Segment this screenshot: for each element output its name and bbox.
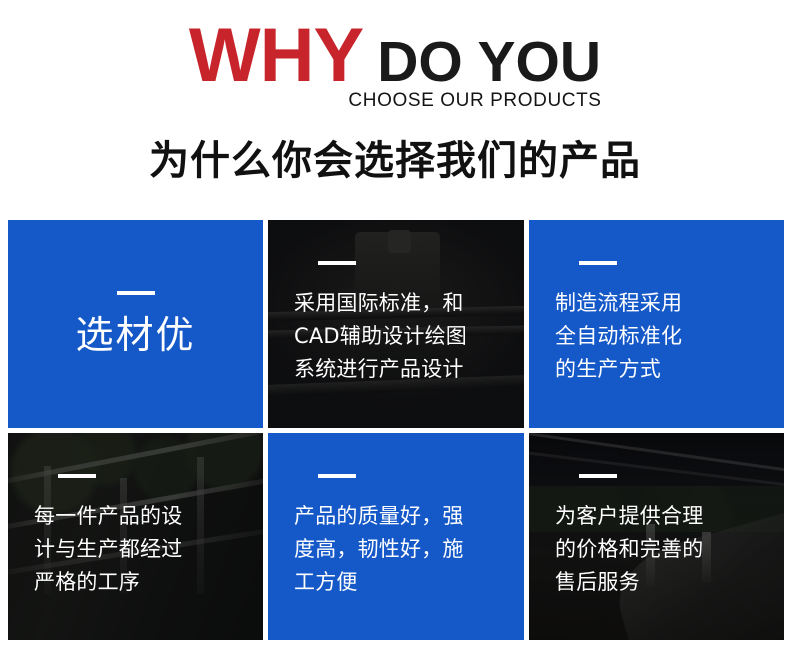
divider-dash-icon <box>318 261 356 265</box>
title-inner: WHYDO YOU <box>0 18 790 94</box>
feature-cell-5[interactable]: 产品的质量好，强 度高，韧性好，施 工方便 <box>268 433 524 641</box>
page-header: WHYDO YOU CHOOSE OUR PRODUCTS 为什么你会选择我们的… <box>0 0 790 216</box>
feature-cell-1[interactable]: 选材优 <box>8 220 263 428</box>
divider-dash-icon <box>579 261 617 265</box>
feature-cell-2-content: 采用国际标准，和 CAD辅助设计绘图 系统进行产品设计 <box>268 220 524 428</box>
divider-dash-icon <box>318 474 356 478</box>
subtitle-english: CHOOSE OUR PRODUCTS <box>0 90 790 112</box>
feature-cell-3[interactable]: 制造流程采用 全自动标准化 的生产方式 <box>529 220 784 428</box>
feature-cell-6[interactable]: 为客户提供合理 的价格和完善的 售后服务 <box>529 433 784 641</box>
feature-cell-4-content: 每一件产品的设 计与生产都经过 严格的工序 <box>8 433 263 641</box>
feature-cell-6-content: 为客户提供合理 的价格和完善的 售后服务 <box>529 433 784 641</box>
divider-dash-icon <box>58 474 96 478</box>
title-word-do-you: DO YOU <box>377 30 601 94</box>
feature-cell-2-text: 采用国际标准，和 CAD辅助设计绘图 系统进行产品设计 <box>294 287 498 386</box>
feature-cell-4[interactable]: 每一件产品的设 计与生产都经过 严格的工序 <box>8 433 263 641</box>
headline-chinese: 为什么你会选择我们的产品 <box>0 128 790 186</box>
feature-cell-6-text: 为客户提供合理 的价格和完善的 售后服务 <box>555 500 758 599</box>
divider-dash-icon <box>117 291 155 295</box>
feature-grid: 选材优 采用国际标准，和 CAD辅助设计绘图 系统进行产品设计 制造流程采用 全… <box>8 220 782 640</box>
feature-cell-1-content: 选材优 <box>8 220 263 428</box>
feature-cell-3-content: 制造流程采用 全自动标准化 的生产方式 <box>529 220 784 428</box>
title-row: WHYDO YOU <box>0 18 790 98</box>
title-word-why: WHY <box>189 13 363 98</box>
feature-cell-2[interactable]: 采用国际标准，和 CAD辅助设计绘图 系统进行产品设计 <box>268 220 524 428</box>
feature-cell-5-content: 产品的质量好，强 度高，韧性好，施 工方便 <box>268 433 524 641</box>
divider-dash-icon <box>579 474 617 478</box>
feature-cell-3-text: 制造流程采用 全自动标准化 的生产方式 <box>555 287 758 386</box>
feature-cell-1-text: 选材优 <box>75 313 195 357</box>
feature-cell-5-text: 产品的质量好，强 度高，韧性好，施 工方便 <box>294 500 498 599</box>
feature-cell-4-text: 每一件产品的设 计与生产都经过 严格的工序 <box>34 500 237 599</box>
